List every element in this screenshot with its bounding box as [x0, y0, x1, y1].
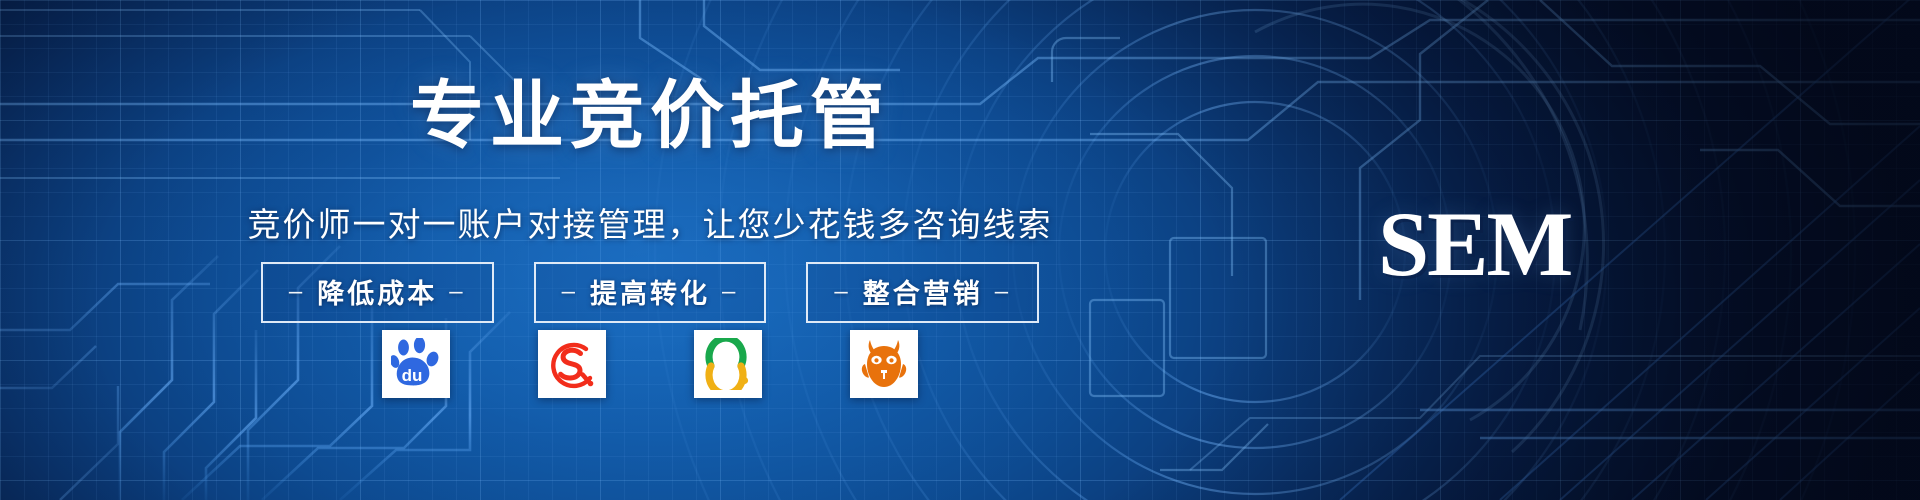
dash-right-icon: – [449, 278, 465, 306]
dash-left-icon: – [562, 278, 578, 306]
sem-hosting-banner: 专业竞价托管 竞价师一对一账户对接管理，让您少花钱多咨询线索 – 降低成本 – … [0, 0, 1920, 500]
dash-right-icon: – [722, 278, 738, 306]
logo-tile-shenma[interactable] [850, 330, 918, 398]
dash-left-icon: – [289, 278, 305, 306]
dash-right-icon: – [995, 278, 1011, 306]
sem-brand-mark: SEM [1378, 198, 1571, 290]
feature-tag-label: 整合营销 [863, 272, 983, 311]
feature-tag-label: 提高转化 [590, 272, 710, 311]
logo-tile-360-search[interactable] [694, 330, 762, 398]
feature-tag-improve-conversion[interactable]: – 提高转化 – [534, 262, 767, 323]
logo-tile-sogou[interactable] [538, 330, 606, 398]
platform-logo-list: du [0, 330, 1300, 398]
so360-logo-icon [703, 338, 753, 390]
sogou-logo-icon [546, 338, 598, 390]
feature-tag-reduce-cost[interactable]: – 降低成本 – [261, 262, 494, 323]
shenma-logo-icon [859, 337, 909, 391]
banner-content: 专业竞价托管 竞价师一对一账户对接管理，让您少花钱多咨询线索 – 降低成本 – … [0, 0, 1920, 500]
dash-left-icon: – [834, 278, 850, 306]
feature-tag-integrated-marketing[interactable]: – 整合营销 – [806, 262, 1039, 323]
feature-tag-label: 降低成本 [317, 272, 437, 311]
page-title: 专业竞价托管 [0, 56, 1300, 163]
baidu-logo-icon: du [391, 338, 441, 390]
feature-tag-list: – 降低成本 – – 提高转化 – – 整合营销 – [0, 262, 1300, 323]
logo-tile-baidu[interactable]: du [382, 330, 450, 398]
page-subtitle: 竞价师一对一账户对接管理，让您少花钱多咨询线索 [0, 198, 1300, 246]
svg-text:du: du [402, 366, 423, 385]
